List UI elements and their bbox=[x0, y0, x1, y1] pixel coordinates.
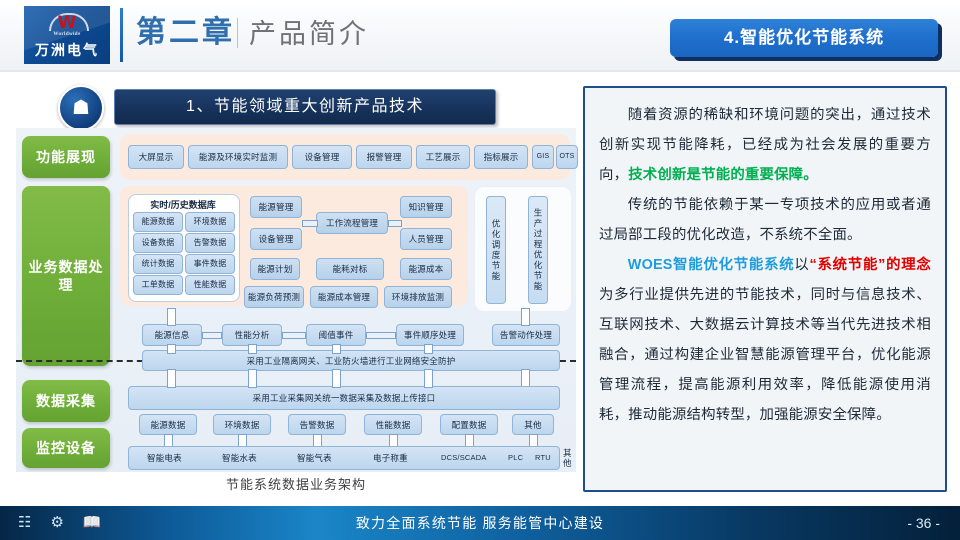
proc-alarm-action[interactable]: 告警动作处理 bbox=[492, 324, 560, 346]
desc-p1-highlight: 技术创新是节能的重要保障。 bbox=[628, 167, 818, 183]
arrow-gw-4 bbox=[424, 369, 433, 388]
db-item-workorder[interactable]: 工单数据 bbox=[133, 275, 183, 295]
data-type-other[interactable]: 其他 bbox=[512, 414, 554, 435]
biz-personnel-management[interactable]: 人员管理 bbox=[400, 228, 452, 250]
data-type-environment[interactable]: 环境数据 bbox=[213, 414, 271, 435]
data-type-config[interactable]: 配置数据 bbox=[440, 414, 498, 435]
desc-p3-concept: “系统节能”的理念 bbox=[810, 257, 931, 273]
database-title: 实时/历史数据库 bbox=[128, 198, 238, 211]
lane-label-collection: 数据采集 bbox=[22, 380, 110, 422]
device-gas-meter[interactable]: 智能气表 bbox=[297, 453, 332, 463]
func-btn-ots[interactable]: OTS bbox=[556, 145, 578, 169]
biz-workflow-management[interactable]: 工作流程管理 bbox=[316, 212, 388, 234]
func-btn-gis[interactable]: GIS bbox=[532, 145, 554, 169]
device-weighing[interactable]: 电子称重 bbox=[373, 453, 408, 463]
description-paragraph-3: WOES智能优化节能系统以“系统节能”的理念为多行业提供先进的节能技术，同时与信… bbox=[599, 250, 931, 430]
arrow-gw-3 bbox=[332, 369, 341, 388]
topic-banner: 4.智能优化节能系统 bbox=[670, 19, 938, 57]
arrow-to-workflow-right bbox=[388, 220, 402, 227]
device-other[interactable]: 其他 bbox=[563, 448, 572, 468]
arrow-sec-3 bbox=[332, 344, 341, 354]
db-item-device[interactable]: 设备数据 bbox=[133, 233, 183, 253]
proc-event-sequence[interactable]: 事件顺序处理 bbox=[396, 324, 464, 346]
proc-performance-analysis[interactable]: 性能分析 bbox=[222, 324, 282, 346]
slide-root: W Worldwide 万洲电气 第二章 产品简介 4.智能优化节能系统 ☗ 1… bbox=[0, 0, 960, 540]
db-item-alarm[interactable]: 告警数据 bbox=[185, 233, 235, 253]
arrow-proc-1 bbox=[202, 332, 222, 339]
func-btn-alarm-mgmt[interactable]: 报警管理 bbox=[356, 145, 412, 169]
arrow-to-workflow-left bbox=[302, 220, 318, 227]
page-number: - 36 - bbox=[907, 506, 940, 540]
architecture-diagram: 功能展现 业务数据处理 数据采集 监控设备 大屏显示 能源及环境实时监测 设备管… bbox=[16, 128, 576, 472]
lane-label-monitoring: 监控设备 bbox=[22, 428, 110, 468]
arrow-up-energy-info bbox=[167, 308, 176, 326]
db-item-energy[interactable]: 能源数据 bbox=[133, 212, 183, 232]
header-text-separator bbox=[237, 18, 238, 48]
footer-slogan: 致力全面系统节能 服务能管中心建设 bbox=[0, 506, 960, 540]
chapter-title: 第二章 bbox=[136, 16, 235, 50]
db-item-environment[interactable]: 环境数据 bbox=[185, 212, 235, 232]
description-paragraph-1: 随着资源的稀缺和环境问题的突出，通过技术创新实现节能降耗，已经成为社会发展的重要… bbox=[599, 100, 931, 190]
func-btn-kpi-display[interactable]: 指标展示 bbox=[474, 145, 528, 169]
data-type-energy[interactable]: 能源数据 bbox=[139, 414, 197, 435]
db-item-statistics[interactable]: 统计数据 bbox=[133, 254, 183, 274]
chapter-subtitle: 产品简介 bbox=[249, 17, 369, 51]
proc-threshold-event[interactable]: 阈值事件 bbox=[306, 324, 366, 346]
biz-device-management[interactable]: 设备管理 bbox=[250, 228, 302, 250]
logo-letter: W bbox=[24, 15, 110, 32]
device-rtu[interactable]: RTU bbox=[535, 453, 551, 463]
arrow-sec-1 bbox=[167, 344, 176, 354]
description-text: 随着资源的稀缺和环境问题的突出，通过技术创新实现节能降耗，已经成为社会发展的重要… bbox=[599, 100, 931, 478]
header-accent-bar bbox=[120, 8, 123, 62]
side-col-process-saving[interactable]: 生产过程优化节能 bbox=[528, 196, 548, 304]
arrow-sec-2 bbox=[248, 344, 257, 354]
biz-energy-cost[interactable]: 能源成本 bbox=[400, 258, 452, 280]
company-logo: W Worldwide 万洲电气 bbox=[24, 6, 110, 64]
biz-energy-plan[interactable]: 能源计划 bbox=[250, 258, 300, 280]
security-gateway-bar[interactable]: 采用工业隔离网关、工业防火墙进行工业网络安全防护 bbox=[142, 350, 560, 371]
desc-p3-product: WOES智能优化节能系统 bbox=[628, 257, 795, 273]
logo-english-name: Worldwide bbox=[24, 32, 110, 37]
arrow-down-to-collector bbox=[521, 369, 530, 387]
device-water-meter[interactable]: 智能水表 bbox=[222, 453, 257, 463]
side-col-dispatch-saving[interactable]: 优化调度节能 bbox=[486, 196, 506, 304]
description-panel: 随着资源的稀缺和环境问题的突出，通过技术创新实现节能降耗，已经成为社会发展的重要… bbox=[583, 86, 947, 492]
desc-p3-rest: 为多行业提供先进的节能技术，同时与信息技术、互联网技术、大数据云计算技术等当代先… bbox=[599, 287, 931, 423]
arrow-proc-3 bbox=[366, 332, 396, 339]
hand-lightbulb-glyph: ☗ bbox=[60, 87, 102, 129]
section-title-bar: 1、节能领域重大创新产品技术 bbox=[114, 89, 496, 125]
lane-label-business: 业务数据处理 bbox=[22, 186, 110, 366]
data-type-performance[interactable]: 性能数据 bbox=[364, 414, 422, 435]
device-smart-meter[interactable]: 智能电表 bbox=[147, 453, 182, 463]
section-title-label: 1、节能领域重大创新产品技术 bbox=[115, 90, 495, 124]
lane-label-function: 功能展现 bbox=[22, 136, 110, 178]
hand-lightbulb-icon: ☗ bbox=[58, 85, 104, 131]
device-dcs-scada[interactable]: DCS/SCADA bbox=[441, 453, 487, 463]
topic-banner-label: 4.智能优化节能系统 bbox=[670, 19, 938, 57]
desc-p3-mid: 以 bbox=[794, 257, 809, 273]
footer-bar: ☷ ⚙ 📖 致力全面系统节能 服务能管中心建设 - 36 - bbox=[0, 506, 960, 540]
func-btn-bigscreen[interactable]: 大屏显示 bbox=[128, 145, 184, 169]
func-btn-process-display[interactable]: 工艺展示 bbox=[416, 145, 470, 169]
arrow-gw-2 bbox=[248, 369, 257, 388]
biz-emission-monitoring[interactable]: 环境排放监测 bbox=[384, 286, 452, 308]
data-type-alarm[interactable]: 告警数据 bbox=[288, 414, 346, 435]
device-bar: 智能电表 智能水表 智能气表 电子称重 DCS/SCADA PLC RTU 其他 bbox=[128, 446, 560, 470]
arrow-up-alarm-action bbox=[521, 308, 530, 326]
arrow-gw-1 bbox=[167, 369, 176, 388]
arrow-proc-2 bbox=[282, 332, 306, 339]
collection-gateway-bar[interactable]: 采用工业采集网关统一数据采集及数据上传接口 bbox=[128, 386, 560, 410]
device-plc[interactable]: PLC bbox=[508, 453, 523, 463]
biz-benchmark[interactable]: 能耗对标 bbox=[316, 258, 384, 280]
diagram-caption: 节能系统数据业务架构 bbox=[16, 474, 576, 493]
db-item-event[interactable]: 事件数据 bbox=[185, 254, 235, 274]
header-divider bbox=[0, 70, 960, 72]
db-item-performance[interactable]: 性能数据 bbox=[185, 275, 235, 295]
biz-energy-management[interactable]: 能源管理 bbox=[250, 196, 302, 218]
biz-knowledge-management[interactable]: 知识管理 bbox=[400, 196, 452, 218]
func-btn-device-mgmt[interactable]: 设备管理 bbox=[292, 145, 352, 169]
biz-load-forecast[interactable]: 能源负荷预测 bbox=[244, 286, 304, 308]
arrow-sec-4 bbox=[424, 344, 433, 354]
biz-cost-management[interactable]: 能源成本管理 bbox=[310, 286, 378, 308]
proc-energy-info[interactable]: 能源信息 bbox=[142, 324, 202, 346]
func-btn-realtime-monitor[interactable]: 能源及环境实时监测 bbox=[188, 145, 288, 169]
logo-chinese-name: 万洲电气 bbox=[24, 40, 110, 60]
description-paragraph-2: 传统的节能依赖于某一专项技术的应用或者通过局部工段的优化改造，不系统不全面。 bbox=[599, 190, 931, 250]
